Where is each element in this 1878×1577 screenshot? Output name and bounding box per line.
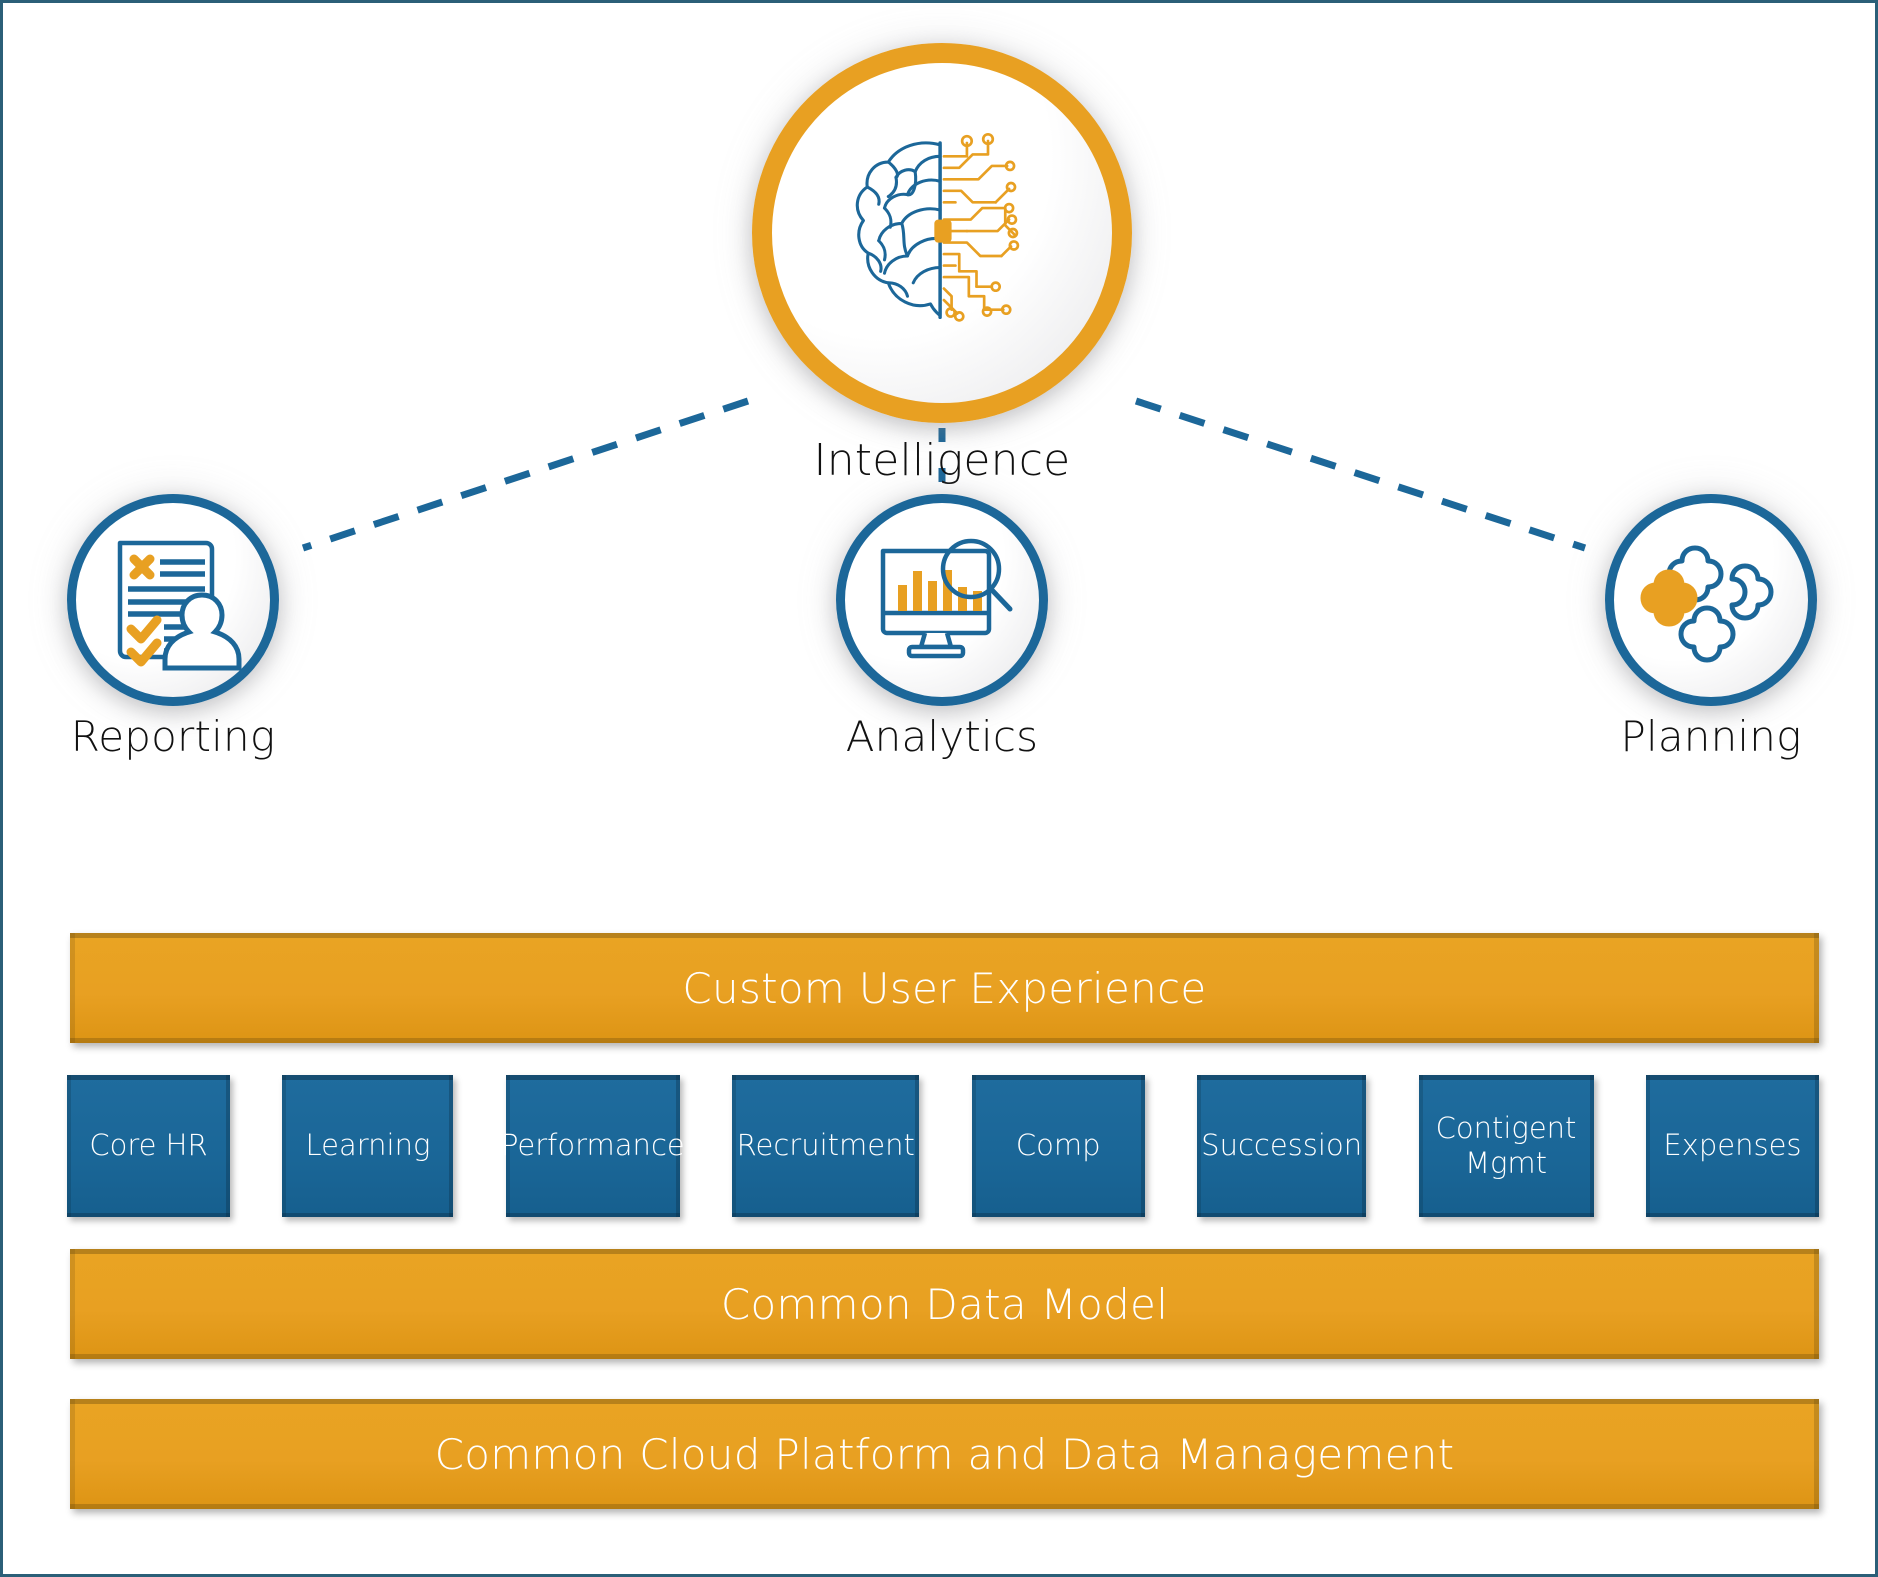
analytics-circle[interactable]	[836, 494, 1048, 706]
intelligence-circle[interactable]	[752, 43, 1132, 423]
module-row: Core HR Learning Performance Recruitment…	[67, 1075, 1819, 1217]
module-label: Learning	[305, 1128, 430, 1163]
module-label: Succession	[1201, 1128, 1362, 1163]
report-checklist-person-icon	[98, 525, 248, 675]
node-label-planning: Planning	[1605, 712, 1817, 761]
module-expenses[interactable]: Expenses	[1646, 1075, 1819, 1217]
bar-common-cloud-platform[interactable]: Common Cloud Platform and Data Managemen…	[70, 1399, 1819, 1509]
module-label: Recruitment	[737, 1128, 915, 1163]
module-label: Expenses	[1663, 1128, 1801, 1163]
module-comp[interactable]: Comp	[972, 1075, 1145, 1217]
module-label: Contigent Mgmt	[1436, 1111, 1577, 1182]
bar-custom-user-experience[interactable]: Custom User Experience	[70, 933, 1819, 1043]
monitor-barchart-magnifier-icon	[867, 525, 1017, 675]
connector-intelligence-reporting	[303, 401, 748, 548]
connector-intelligence-planning	[1136, 401, 1585, 548]
node-label-intelligence: Intelligence	[752, 435, 1132, 486]
module-recruitment[interactable]: Recruitment	[732, 1075, 919, 1217]
module-succession[interactable]: Succession	[1197, 1075, 1366, 1217]
puzzle-pieces-icon	[1636, 525, 1786, 675]
node-label-analytics: Analytics	[836, 712, 1048, 761]
module-label: Performance	[501, 1128, 685, 1163]
bar-common-data-model[interactable]: Common Data Model	[70, 1249, 1819, 1359]
brain-circuit-icon	[827, 118, 1057, 348]
node-planning[interactable]: Planning	[1605, 494, 1817, 706]
module-contigent-mgmt[interactable]: Contigent Mgmt	[1419, 1075, 1594, 1217]
module-label: Core HR	[89, 1128, 207, 1163]
reporting-circle[interactable]	[67, 494, 279, 706]
diagram-canvas: Intelligence	[0, 0, 1878, 1577]
module-learning[interactable]: Learning	[282, 1075, 453, 1217]
node-label-reporting: Reporting	[67, 712, 279, 761]
module-performance[interactable]: Performance	[506, 1075, 680, 1217]
module-label: Comp	[1016, 1128, 1101, 1163]
module-core-hr[interactable]: Core HR	[67, 1075, 230, 1217]
node-intelligence[interactable]: Intelligence	[752, 43, 1132, 423]
planning-circle[interactable]	[1605, 494, 1817, 706]
node-reporting[interactable]: Reporting	[67, 494, 279, 706]
node-analytics[interactable]: Analytics	[836, 494, 1048, 706]
